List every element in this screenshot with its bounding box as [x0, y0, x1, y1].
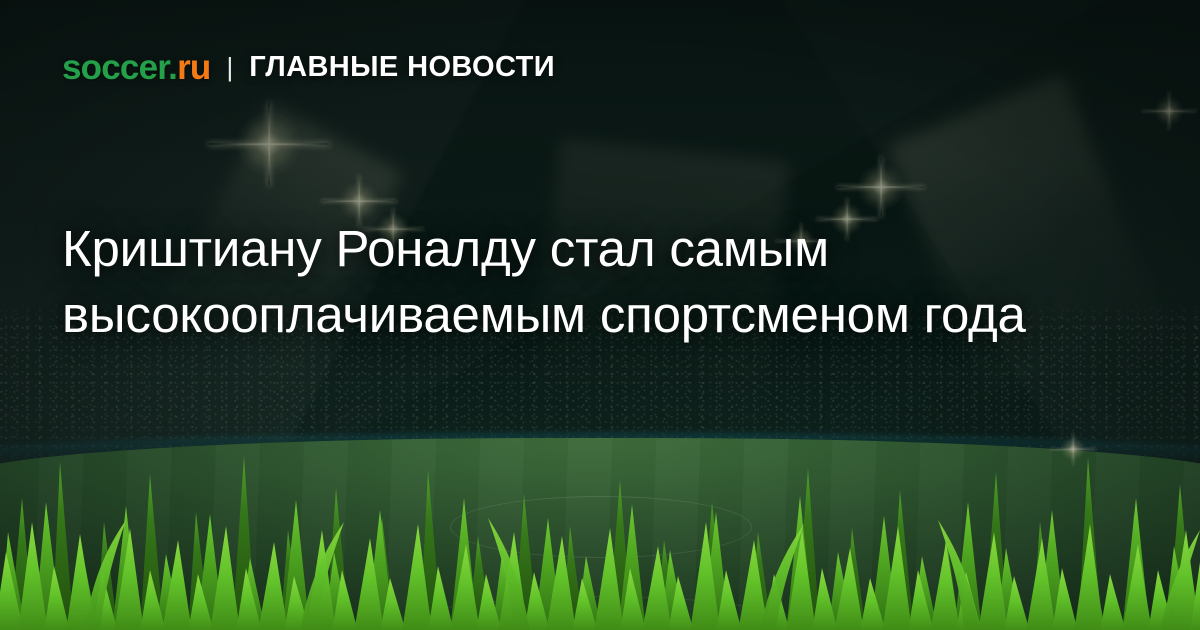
logo-text-ru: ru: [177, 48, 210, 87]
logo-text-dot: .: [168, 48, 177, 87]
card-header: soccer.ru | ГЛАВНЫЕ НОВОСТИ: [62, 50, 555, 85]
header-separator: |: [226, 54, 233, 80]
news-share-card: soccer.ru | ГЛАВНЫЕ НОВОСТИ Криштиану Ро…: [0, 0, 1200, 630]
header-kicker-label: ГЛАВНЫЕ НОВОСТИ: [249, 53, 555, 82]
foreground-grass: [0, 402, 1200, 630]
soccer-ru-logo[interactable]: soccer.ru: [62, 50, 210, 85]
logo-text-soccer: soccer: [62, 48, 168, 87]
article-headline: Криштиану Роналду стал самым высокооплач…: [62, 216, 1122, 349]
